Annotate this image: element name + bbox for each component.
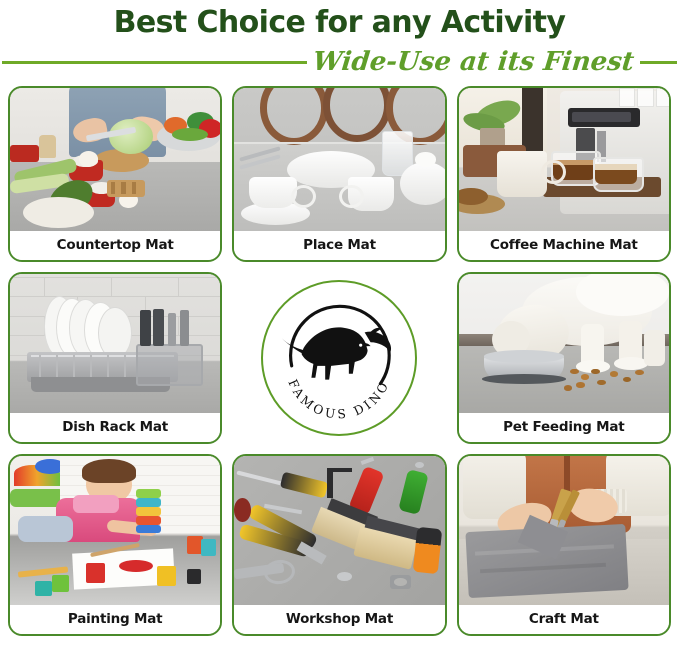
famous-dino-logo-icon: FAMOUS DINO xyxy=(270,289,408,427)
card-countertop-mat[interactable]: Countertop Mat xyxy=(8,86,222,262)
card-pet-feeding-mat[interactable]: Pet Feeding Mat xyxy=(457,272,671,444)
brand-name-text: FAMOUS DINO xyxy=(286,377,393,421)
photo-coffee-machine xyxy=(459,88,669,231)
card-craft-mat[interactable]: Craft Mat xyxy=(457,454,671,636)
photo-place-setting xyxy=(234,88,444,231)
card-label: Craft Mat xyxy=(459,605,669,634)
card-label: Countertop Mat xyxy=(10,231,220,260)
photo-child-painting xyxy=(10,456,220,605)
divider-right xyxy=(640,61,677,64)
divider-left xyxy=(2,61,307,64)
brand-logo-cell: FAMOUS DINO xyxy=(232,272,446,444)
subtitle-row: Wide-Use at its Finest xyxy=(0,44,679,80)
product-use-grid: Countertop Mat xyxy=(0,80,679,644)
page-subtitle: Wide-Use at its Finest xyxy=(311,47,635,77)
header: Best Choice for any Activity Wide-Use at… xyxy=(0,0,679,80)
card-label: Coffee Machine Mat xyxy=(459,231,669,260)
card-label: Painting Mat xyxy=(10,605,220,634)
photo-kitchen-countertop xyxy=(10,88,220,231)
card-label: Pet Feeding Mat xyxy=(459,413,669,442)
card-label: Place Mat xyxy=(234,231,444,260)
photo-workshop-tools xyxy=(234,456,444,605)
card-painting-mat[interactable]: Painting Mat xyxy=(8,454,222,636)
card-coffee-machine-mat[interactable]: Coffee Machine Mat xyxy=(457,86,671,262)
card-label: Dish Rack Mat xyxy=(10,413,220,442)
photo-dish-rack xyxy=(10,274,220,413)
card-dish-rack-mat[interactable]: Dish Rack Mat xyxy=(8,272,222,444)
infographic-page: Best Choice for any Activity Wide-Use at… xyxy=(0,0,679,665)
photo-pet-feeding xyxy=(459,274,669,413)
page-title: Best Choice for any Activity xyxy=(0,4,679,42)
logo-ring: FAMOUS DINO xyxy=(261,280,417,436)
card-label: Workshop Mat xyxy=(234,605,444,634)
card-workshop-mat[interactable]: Workshop Mat xyxy=(232,454,446,636)
card-place-mat[interactable]: Place Mat xyxy=(232,86,446,262)
svg-text:FAMOUS DINO: FAMOUS DINO xyxy=(286,377,393,421)
photo-craft-cutting-fabric xyxy=(459,456,669,605)
